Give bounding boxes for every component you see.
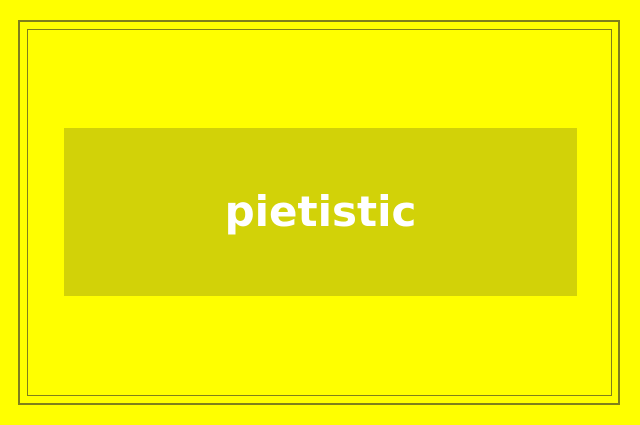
word-label: pietistic — [225, 191, 417, 233]
poster-canvas: pietistic — [0, 0, 640, 425]
content-panel: pietistic — [64, 128, 577, 296]
